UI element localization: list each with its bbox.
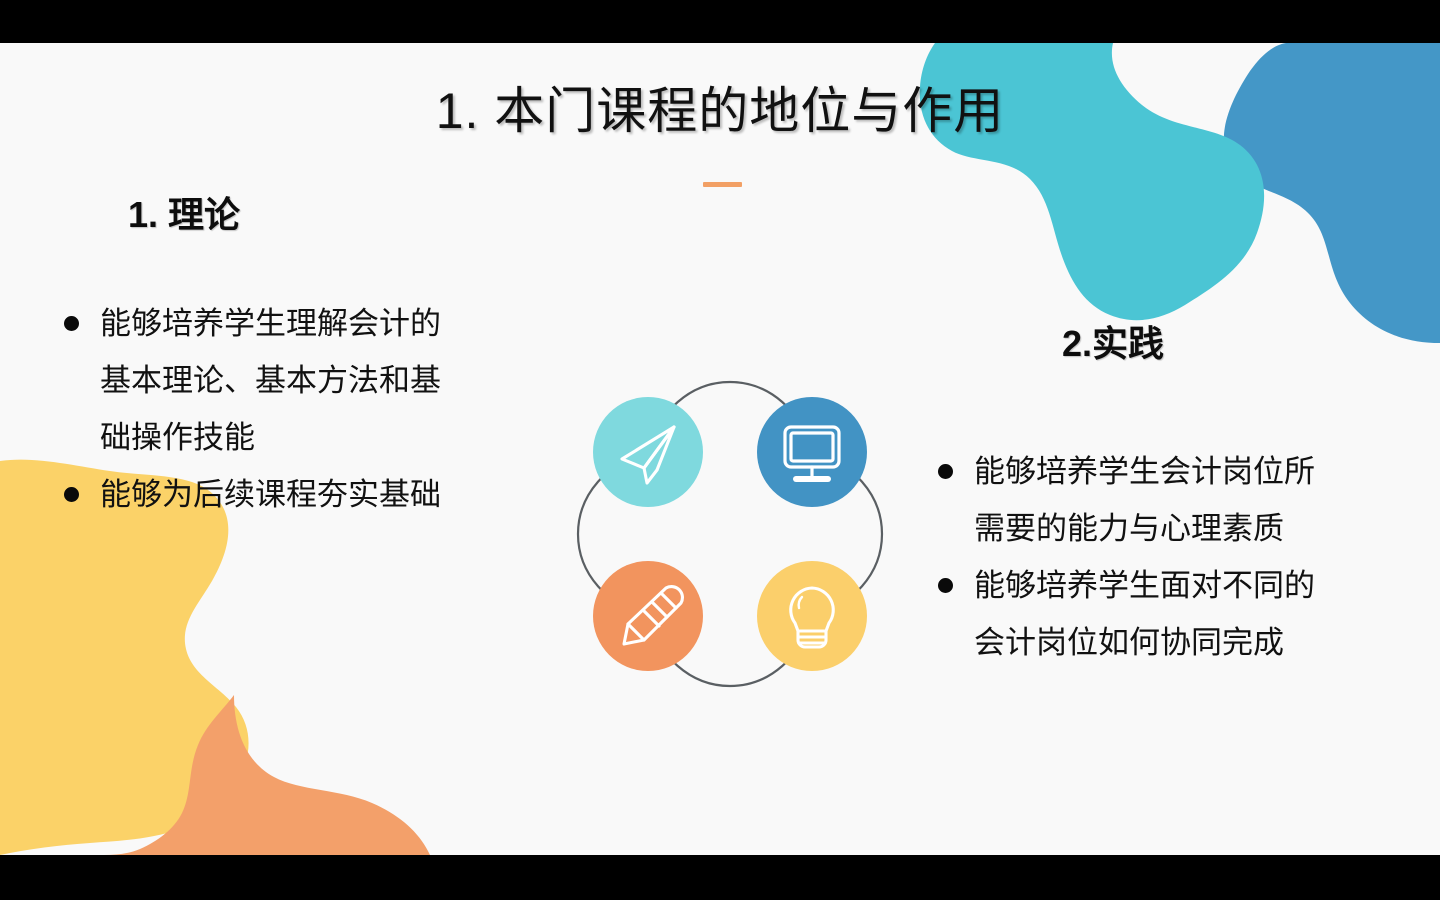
bullet-dot-icon bbox=[64, 487, 79, 502]
list-item-text: 能够培养学生会计岗位所 需要的能力与心理素质 bbox=[974, 443, 1432, 557]
list-item: 能够培养学生会计岗位所 需要的能力与心理素质 bbox=[932, 443, 1432, 557]
slide-canvas: 1. 本门课程的地位与作用 1. 理论 能够培养学生理解会计的 基本理论、基本方… bbox=[0, 0, 1440, 900]
left-bullet-list: 能够培养学生理解会计的 基本理论、基本方法和基 础操作技能 能够为后续课程夯实基… bbox=[58, 295, 578, 523]
center-diagram bbox=[540, 320, 920, 720]
list-item-text: 能够培养学生面对不同的 会计岗位如何协同完成 bbox=[974, 557, 1432, 671]
letterbox-bottom bbox=[0, 855, 1440, 900]
blob-orange bbox=[104, 695, 430, 855]
left-section-heading: 1. 理论 bbox=[128, 186, 240, 238]
paper-plane-circle bbox=[593, 397, 703, 507]
diagram-node-monitor bbox=[757, 397, 867, 507]
slide-stage: 1. 本门课程的地位与作用 1. 理论 能够培养学生理解会计的 基本理论、基本方… bbox=[0, 43, 1440, 855]
bullet-dot-icon bbox=[64, 316, 79, 331]
bullet-dot-icon bbox=[938, 578, 953, 593]
bullet-dot-icon bbox=[938, 464, 953, 479]
diagram-node-lightbulb bbox=[757, 561, 867, 671]
list-item: 能够培养学生面对不同的 会计岗位如何协同完成 bbox=[932, 557, 1432, 671]
diagram-node-pencil bbox=[593, 561, 703, 671]
right-section-heading: 2.实践 bbox=[1062, 315, 1164, 367]
list-item: 能够为后续课程夯实基础 bbox=[58, 466, 578, 523]
letterbox-top bbox=[0, 0, 1440, 43]
list-item-text: 能够为后续课程夯实基础 bbox=[100, 466, 578, 523]
diagram-node-paper-plane bbox=[593, 397, 703, 507]
list-item-text: 能够培养学生理解会计的 基本理论、基本方法和基 础操作技能 bbox=[100, 295, 578, 466]
list-item: 能够培养学生理解会计的 基本理论、基本方法和基 础操作技能 bbox=[58, 295, 578, 466]
monitor-circle bbox=[757, 397, 867, 507]
title-accent-dash bbox=[703, 182, 742, 187]
page-title: 1. 本门课程的地位与作用 bbox=[0, 71, 1440, 143]
right-bullet-list: 能够培养学生会计岗位所 需要的能力与心理素质 能够培养学生面对不同的 会计岗位如… bbox=[932, 443, 1432, 671]
lightbulb-circle bbox=[757, 561, 867, 671]
